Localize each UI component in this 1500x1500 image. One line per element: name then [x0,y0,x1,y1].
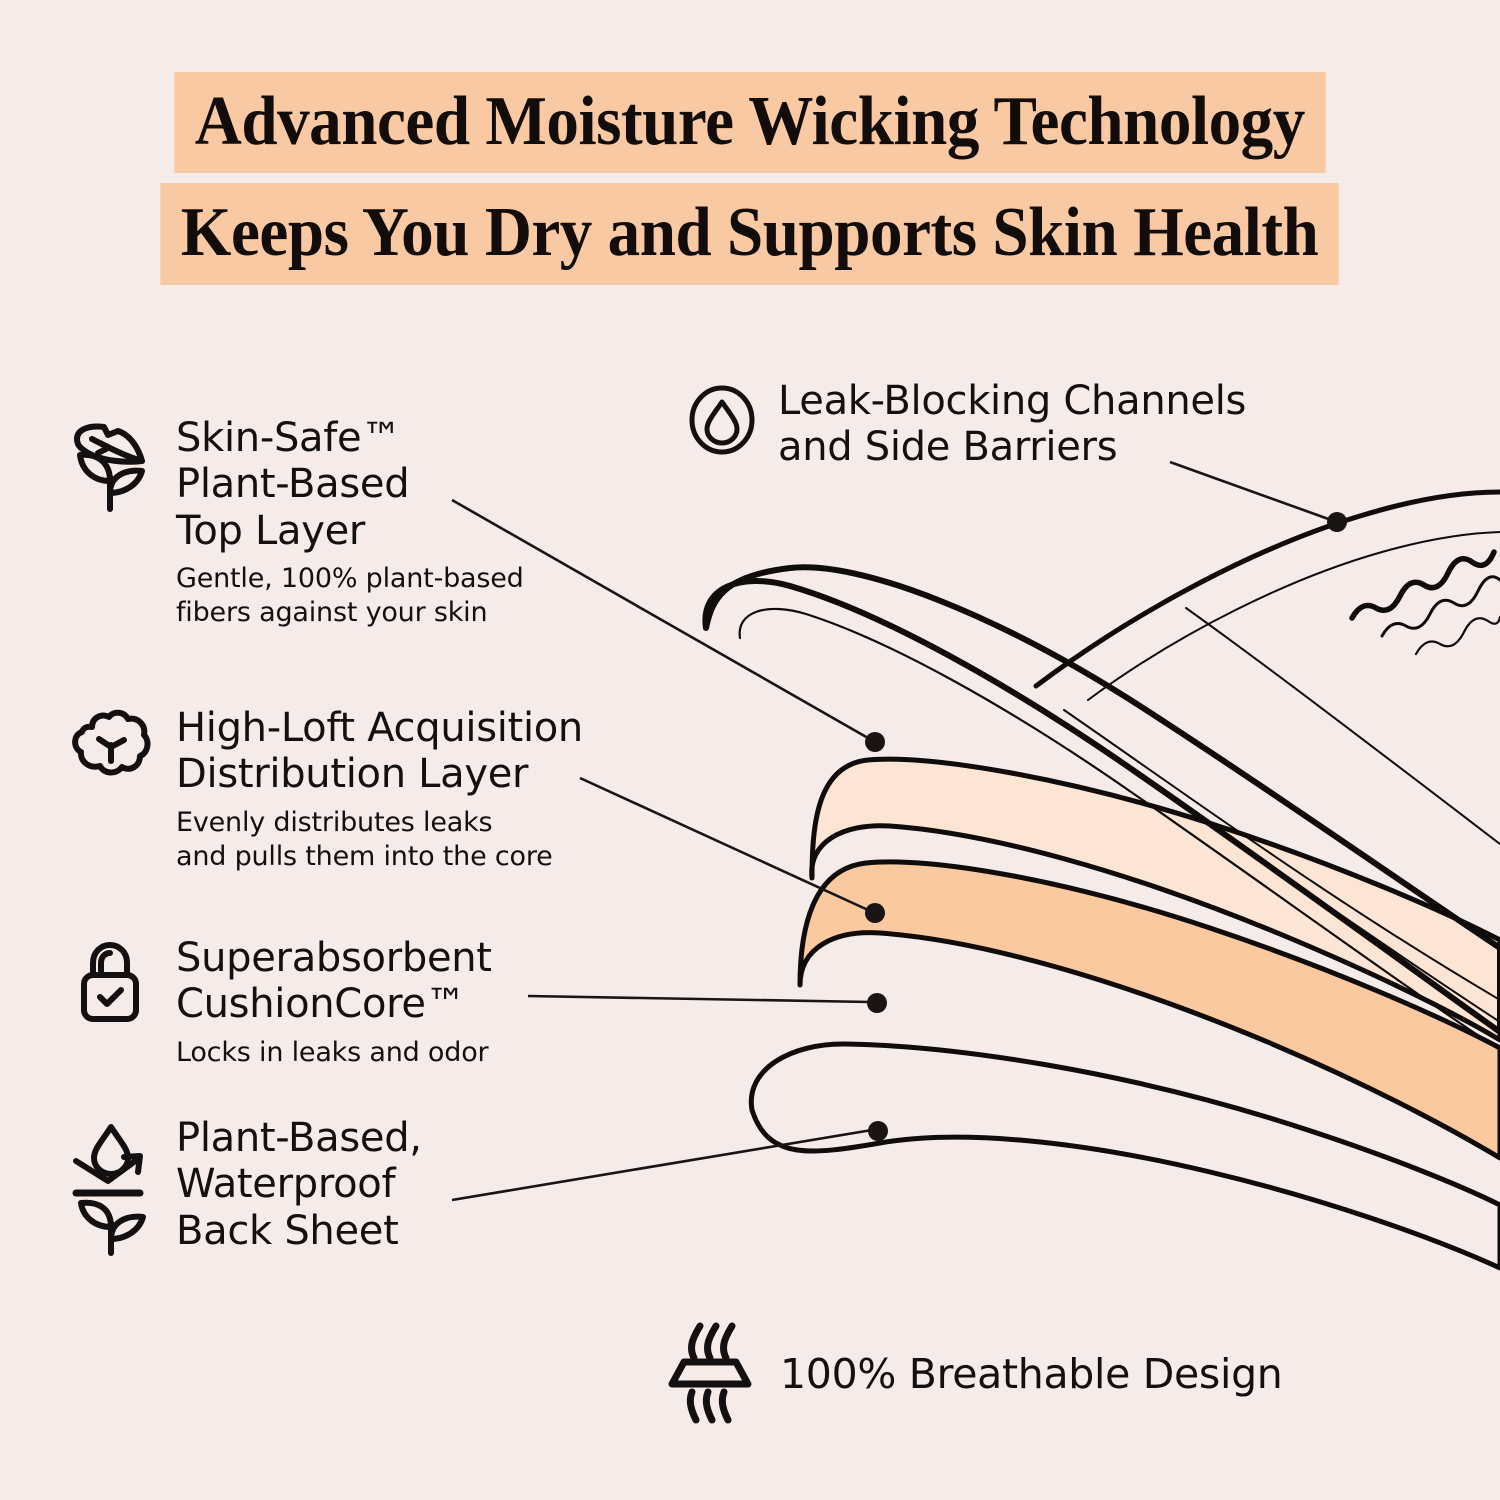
pad-contour-lower-thin [1064,710,1500,1000]
headline-row-2: Keeps You Dry and Supports Skin Health [0,183,1500,284]
callout-breathable-title: 100% Breathable Design [780,1354,1283,1395]
feature-top-layer-subtitle: Gentle, 100% plant-based fibers against … [176,562,588,630]
pad-contour-mid-thin [1140,776,1500,1022]
callout-channels-body: Leak-Blocking Channels and Side Barriers [778,378,1326,471]
feature-top-layer-title: Skin-Safe™ Plant-Based Top Layer [176,415,588,554]
side-barrier-wave-3 [1416,617,1500,654]
callout-channels-title: Leak-Blocking Channels and Side Barriers [778,378,1326,471]
leader-dot-channels [1327,512,1347,532]
back-sheet-outline [751,1044,1500,1268]
headline-line-2: Keeps You Dry and Supports Skin Health [161,183,1339,284]
feature-back-sheet-body: Plant-Based, Waterproof Back Sheet [176,1115,538,1254]
feature-back-sheet-title: Plant-Based, Waterproof Back Sheet [176,1115,538,1254]
feature-adl-title: High-Loft Acquisition Distribution Layer [176,705,648,798]
leader-dot-top-layer [865,732,885,752]
lock-check-icon [68,935,154,1035]
leaf-sprout-icon [68,415,154,515]
droplet-circle-icon [686,378,758,456]
callout-leak-blocking-channels: Leak-Blocking Channels and Side Barriers [686,378,1326,471]
top-layer-inner-line [740,609,1500,1050]
leader-line-channels [1170,462,1334,521]
callout-breathable-design: 100% Breathable Design [662,1322,1283,1426]
feature-adl-body: High-Loft Acquisition Distribution Layer… [176,705,648,873]
feature-core-title: Superabsorbent CushionCore™ [176,935,588,1028]
feature-core-subtitle: Locks in leaks and odor [176,1036,588,1070]
feature-acquisition-distribution-layer: High-Loft Acquisition Distribution Layer… [68,705,648,873]
feature-back-sheet: Plant-Based, Waterproof Back Sheet [68,1115,538,1254]
headline-row-1: Advanced Moisture Wicking Technology [0,72,1500,173]
leader-dot-core [867,993,887,1013]
side-barrier-wave-2 [1382,577,1500,636]
absorbent-core-layer [800,862,1500,1158]
feature-adl-subtitle: Evenly distributes leaks and pulls them … [176,806,648,874]
headline-line-1: Advanced Moisture Wicking Technology [175,72,1326,173]
leader-dot-backsheet [868,1121,888,1141]
breathable-airflow-icon [662,1322,758,1426]
top-layer-outline [705,567,1500,1032]
pad-contour-upper-thin [1186,608,1500,844]
callout-breathable-body: 100% Breathable Design [780,1354,1283,1395]
channel-upper-outline-inner [1088,532,1500,700]
feature-top-layer: Skin-Safe™ Plant-Based Top Layer Gentle,… [68,415,588,630]
cotton-cloud-icon [68,705,154,805]
waterproof-plant-icon [68,1115,154,1215]
acquisition-distribution-layer [812,759,1500,1040]
feature-top-layer-body: Skin-Safe™ Plant-Based Top Layer Gentle,… [176,415,588,630]
feature-core-body: Superabsorbent CushionCore™ Locks in lea… [176,935,588,1070]
feature-superabsorbent-core: Superabsorbent CushionCore™ Locks in lea… [68,935,588,1070]
channel-upper-outline [1036,492,1500,686]
leader-dot-adl [865,903,885,923]
side-barrier-wave-1 [1352,552,1494,618]
headline-block: Advanced Moisture Wicking Technology Kee… [0,72,1500,285]
infographic-canvas: Advanced Moisture Wicking Technology Kee… [0,0,1500,1500]
